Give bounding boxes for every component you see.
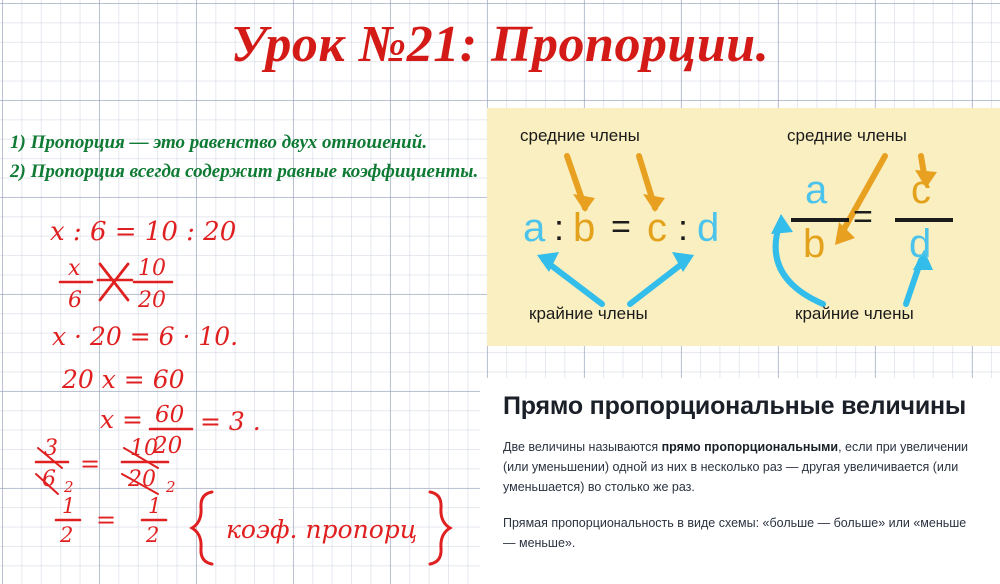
hw-step-2-num-right: 10 xyxy=(138,256,166,281)
hw-step-2-den-right: 20 xyxy=(137,288,166,313)
hw-step-6-num-left: 3 xyxy=(44,436,58,461)
hw-step-5-result: = 3 . xyxy=(200,407,261,436)
info-paragraph-1: Две величины называются прямо пропорцион… xyxy=(503,437,980,497)
colon-1-left: : xyxy=(554,210,564,246)
hw-step-7-eq: = xyxy=(96,506,116,534)
info-paragraph-2: Прямая пропорциональность в виде схемы: … xyxy=(503,513,980,553)
hw-step-2-num-left: 𝑥 xyxy=(68,256,81,281)
label-outer-terms-left: крайние члены xyxy=(529,304,648,324)
term-c-left: c xyxy=(647,208,667,248)
hw-annotation: коэф. пропорц xyxy=(226,515,417,544)
hw-step-1: 𝑥 : 6 = 10 : 20 xyxy=(50,217,236,247)
term-b-left: b xyxy=(573,208,595,248)
hw-step-5-lhs: 𝑥 = xyxy=(100,405,143,434)
label-outer-terms-right: крайние члены xyxy=(795,304,914,324)
proportion-diagram: средние члены a : b = c : d крайние член… xyxy=(487,108,1000,346)
term-a-left: a xyxy=(523,208,545,248)
hw-step-5-num: 60 xyxy=(155,402,184,428)
hw-step-3: 𝑥 · 20 = 6 · 10. xyxy=(52,322,238,351)
hw-step-6-eq: = xyxy=(80,450,100,478)
hw-step-6-small-right: 2 xyxy=(165,478,176,496)
term-d-left: d xyxy=(697,208,719,248)
numerator-c: c xyxy=(911,170,931,210)
denominator-b: b xyxy=(803,224,825,264)
info-panel: Прямо пропорциональные величины Две вели… xyxy=(480,378,1000,584)
info-p1-before: Две величины называются xyxy=(503,440,662,454)
hw-step-7-den-left: 2 xyxy=(59,523,73,547)
page-title: Урок №21: Пропорции. xyxy=(0,18,1000,73)
definition-item-2: 2) Пропорция всегда содержит равные коэф… xyxy=(10,157,478,186)
handwritten-solution: 𝑥 : 6 = 10 : 20 𝑥 6 10 20 𝑥 · 20 = 6 · 1… xyxy=(0,210,480,570)
diagram-fraction-form: средние члены a b = c d xyxy=(743,108,1000,346)
diagram-colon-form: средние члены a : b = c : d крайние член… xyxy=(487,108,743,346)
colon-2-left: : xyxy=(678,210,688,246)
hw-step-7-num-right: 1 xyxy=(148,494,161,518)
hw-step-6-den-left: 6 xyxy=(42,467,56,492)
hw-step-6-num-right: 10 xyxy=(130,436,158,461)
definition-item-1: 1) Пропорция — это равенство двух отноше… xyxy=(10,128,478,157)
denominator-d: d xyxy=(909,224,931,264)
equals-left: = xyxy=(611,210,631,244)
equals-right: = xyxy=(853,200,873,234)
hw-step-4: 20 𝑥 = 60 xyxy=(61,365,185,394)
slide-canvas: Урок №21: Пропорции. 1) Пропорция — это … xyxy=(0,0,1000,584)
info-p1-bold: прямо пропорциональными xyxy=(662,440,838,454)
info-panel-heading: Прямо пропорциональные величины xyxy=(503,392,980,421)
numerator-a: a xyxy=(805,170,827,210)
definition-list: 1) Пропорция — это равенство двух отноше… xyxy=(10,128,478,186)
hw-step-7-den-right: 2 xyxy=(145,523,159,547)
hw-step-7-num-left: 1 xyxy=(62,494,75,518)
hw-step-2-den-left: 6 xyxy=(68,288,82,313)
